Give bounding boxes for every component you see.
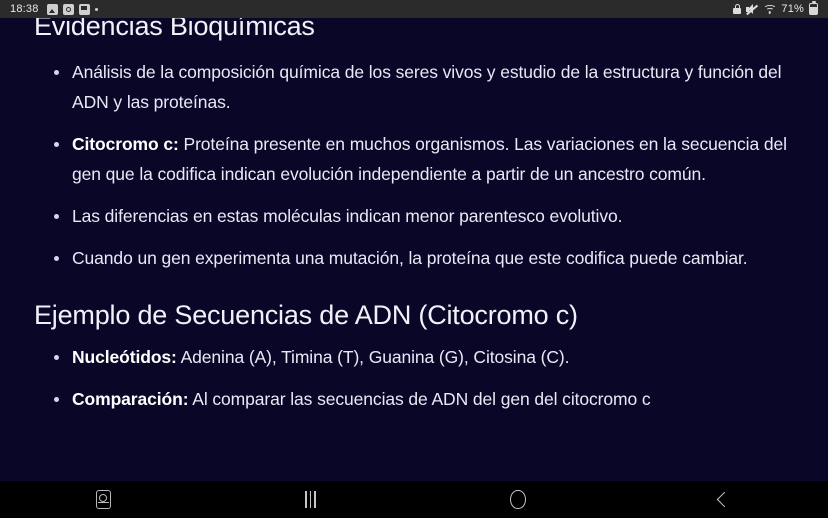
bullet-list-ejemplo: Nucleótidos: Adenina (A), Timina (T), Gu… [34,342,796,414]
home-icon [510,490,526,509]
list-item: Citocromo c: Proteína presente en muchos… [52,129,796,189]
recents-icon [305,491,316,508]
bullet-list-evidencias: Análisis de la composición química de lo… [34,57,796,273]
capture-icon [96,490,111,509]
list-item-text: Las diferencias en estas moléculas indic… [72,206,622,226]
camera-app-icon [63,4,74,15]
list-item-lead: Nucleótidos: [72,347,177,367]
list-item-lead: Citocromo c: [72,134,179,154]
status-bar[interactable]: 18:38 71% [0,0,828,18]
battery-icon [809,3,818,15]
list-item-text: Al comparar las secuencias de ADN del ge… [188,389,650,409]
list-item-text: Adenina (A), Timina (T), Guanina (G), Ci… [177,347,570,367]
list-item-text: Proteína presente en muchos organismos. … [72,134,787,184]
home-button[interactable] [414,481,621,518]
status-bar-clock: 18:38 [10,3,39,15]
list-item: Cuando un gen experimenta una mutación, … [52,243,796,273]
list-item: Comparación: Al comparar las secuencias … [52,384,796,414]
document-body: Evidencias Bioquímicas Análisis de la co… [0,18,828,414]
status-bar-left[interactable]: 18:38 [10,3,98,15]
back-button[interactable] [621,481,828,518]
lock-icon [733,4,741,14]
list-item-lead: Comparación: [72,389,188,409]
screenshot-capture-button[interactable] [0,481,207,518]
section-title-ejemplo: Ejemplo de Secuencias de ADN (Citocromo … [34,299,796,332]
list-item-text: Cuando un gen experimenta una mutación, … [72,248,748,268]
photos-app-icon [47,4,58,15]
back-chevron-icon [717,492,733,508]
recents-button[interactable] [207,481,414,518]
system-navigation-bar [0,481,828,518]
list-item-text: Análisis de la composición química de lo… [72,62,781,112]
list-item: Las diferencias en estas moléculas indic… [52,201,796,231]
mute-icon [746,4,758,15]
save-app-icon [79,4,90,15]
more-notifications-dot-icon [95,8,98,11]
device-screen: 18:38 71% Evidencias Bioquímicas [0,0,828,518]
battery-percent-label: 71% [781,3,804,15]
list-item: Nucleótidos: Adenina (A), Timina (T), Gu… [52,342,796,372]
list-item: Análisis de la composición química de lo… [52,57,796,117]
status-bar-right[interactable]: 71% [733,3,818,15]
document-viewport[interactable]: Evidencias Bioquímicas Análisis de la co… [0,18,828,481]
wifi-icon [763,4,776,14]
section-title-evidencias: Evidencias Bioquímicas [34,18,796,43]
